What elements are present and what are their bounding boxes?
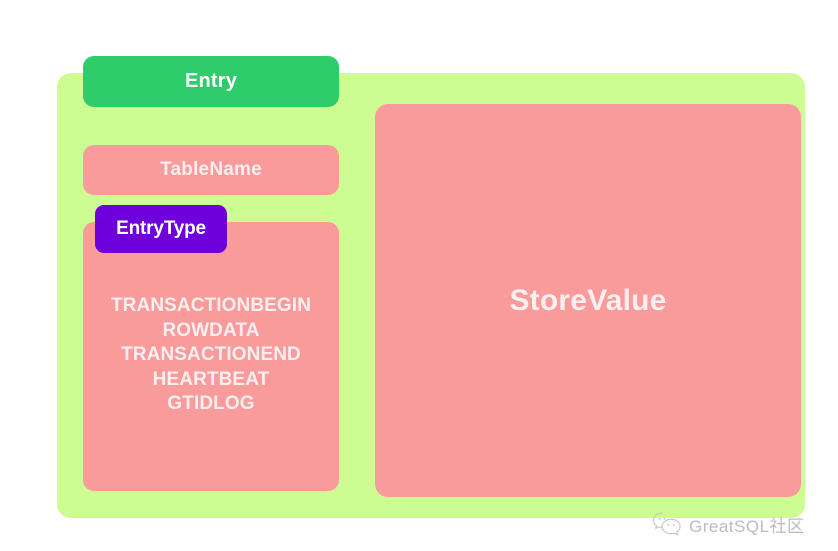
entry-type-field: TRANSACTIONBEGIN ROWDATA TRANSACTIONEND … <box>83 222 339 491</box>
entry-header: Entry <box>83 56 339 107</box>
list-item: TRANSACTIONBEGIN <box>83 294 339 319</box>
entry-type-badge: EntryType <box>95 205 227 253</box>
entry-label: Entry <box>185 70 237 93</box>
list-item: TRANSACTIONEND <box>83 343 339 368</box>
watermark: GreatSQL社区 <box>652 511 805 537</box>
diagram-canvas: Entry TableName TRANSACTIONBEGIN ROWDATA… <box>0 0 838 551</box>
entry-type-value-list: TRANSACTIONBEGIN ROWDATA TRANSACTIONEND … <box>83 294 339 417</box>
list-item: GTIDLOG <box>83 392 339 417</box>
entry-type-label: EntryType <box>116 218 206 240</box>
wechat-icon <box>652 511 682 537</box>
store-value-label: StoreValue <box>509 284 666 318</box>
watermark-text: GreatSQL社区 <box>689 512 805 537</box>
list-item: HEARTBEAT <box>83 368 339 393</box>
table-name-field: TableName <box>83 145 339 195</box>
store-value-field: StoreValue <box>375 104 801 497</box>
table-name-label: TableName <box>160 159 262 181</box>
list-item: ROWDATA <box>83 319 339 344</box>
